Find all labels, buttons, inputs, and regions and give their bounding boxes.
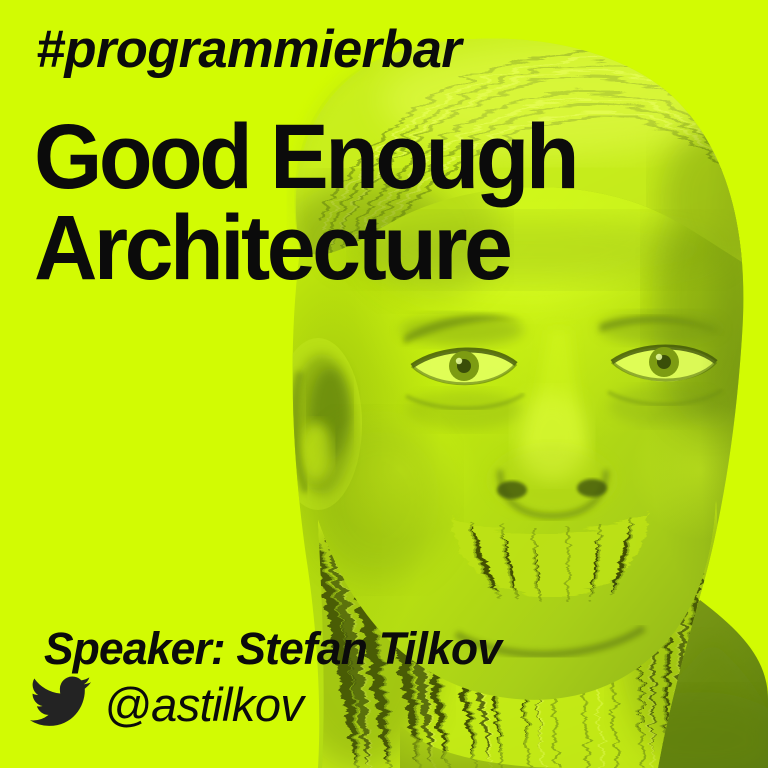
twitter-bird-icon[interactable] (30, 676, 92, 728)
twitter-handle[interactable]: @astilkov (104, 681, 303, 728)
episode-title-line-2: Architecture (34, 203, 576, 294)
social-handle-row[interactable]: @astilkov (30, 676, 303, 728)
speaker-label: Speaker: Stefan Tilkov (44, 626, 501, 671)
episode-title: Good Enough Architecture (34, 112, 602, 294)
podcast-episode-poster: #programmierbar Good Enough Architecture… (0, 0, 768, 768)
episode-title-line-1: Good Enough (34, 112, 576, 203)
podcast-hashtag: #programmierbar (36, 23, 461, 76)
